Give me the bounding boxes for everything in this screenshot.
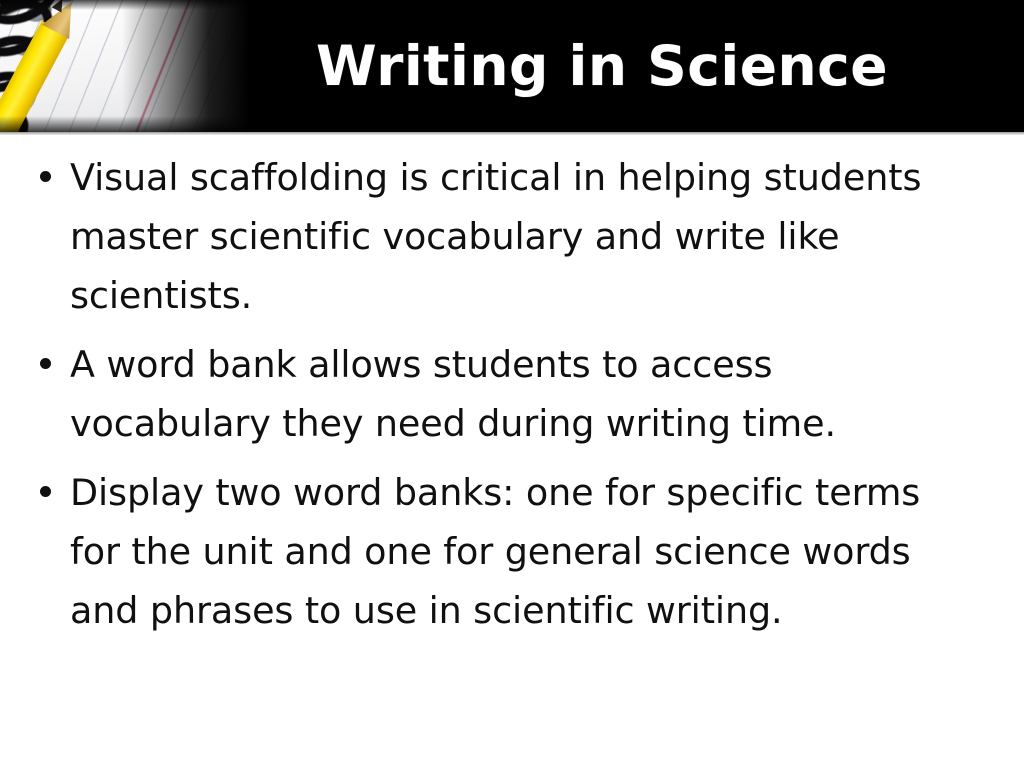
slide-body: Visual scaffolding is critical in helpin… [0,140,1024,768]
photo-fade-bottom-overlay [0,116,290,132]
slide-header-banner: Writing in Science [0,0,1024,132]
bullet-dot-icon [40,486,51,497]
bullet-list: Visual scaffolding is critical in helpin… [34,148,990,640]
notebook-pencil-photo [0,0,290,132]
header-divider [0,132,1024,135]
photo-fade-top-overlay [0,0,290,10]
slide: Writing in Science Visual scaffolding is… [0,0,1024,768]
list-item: A word bank allows students to access vo… [34,335,990,453]
list-item-label: Visual scaffolding is critical in helpin… [70,148,950,325]
bullet-dot-icon [40,358,51,369]
page-title: Writing in Science [290,0,1024,132]
bullet-dot-icon [40,171,51,182]
list-item: Visual scaffolding is critical in helpin… [34,148,990,325]
photo-fade-overlay [0,0,290,132]
list-item-label: Display two word banks: one for specific… [70,463,950,640]
list-item-label: A word bank allows students to access vo… [70,335,950,453]
list-item: Display two word banks: one for specific… [34,463,990,640]
